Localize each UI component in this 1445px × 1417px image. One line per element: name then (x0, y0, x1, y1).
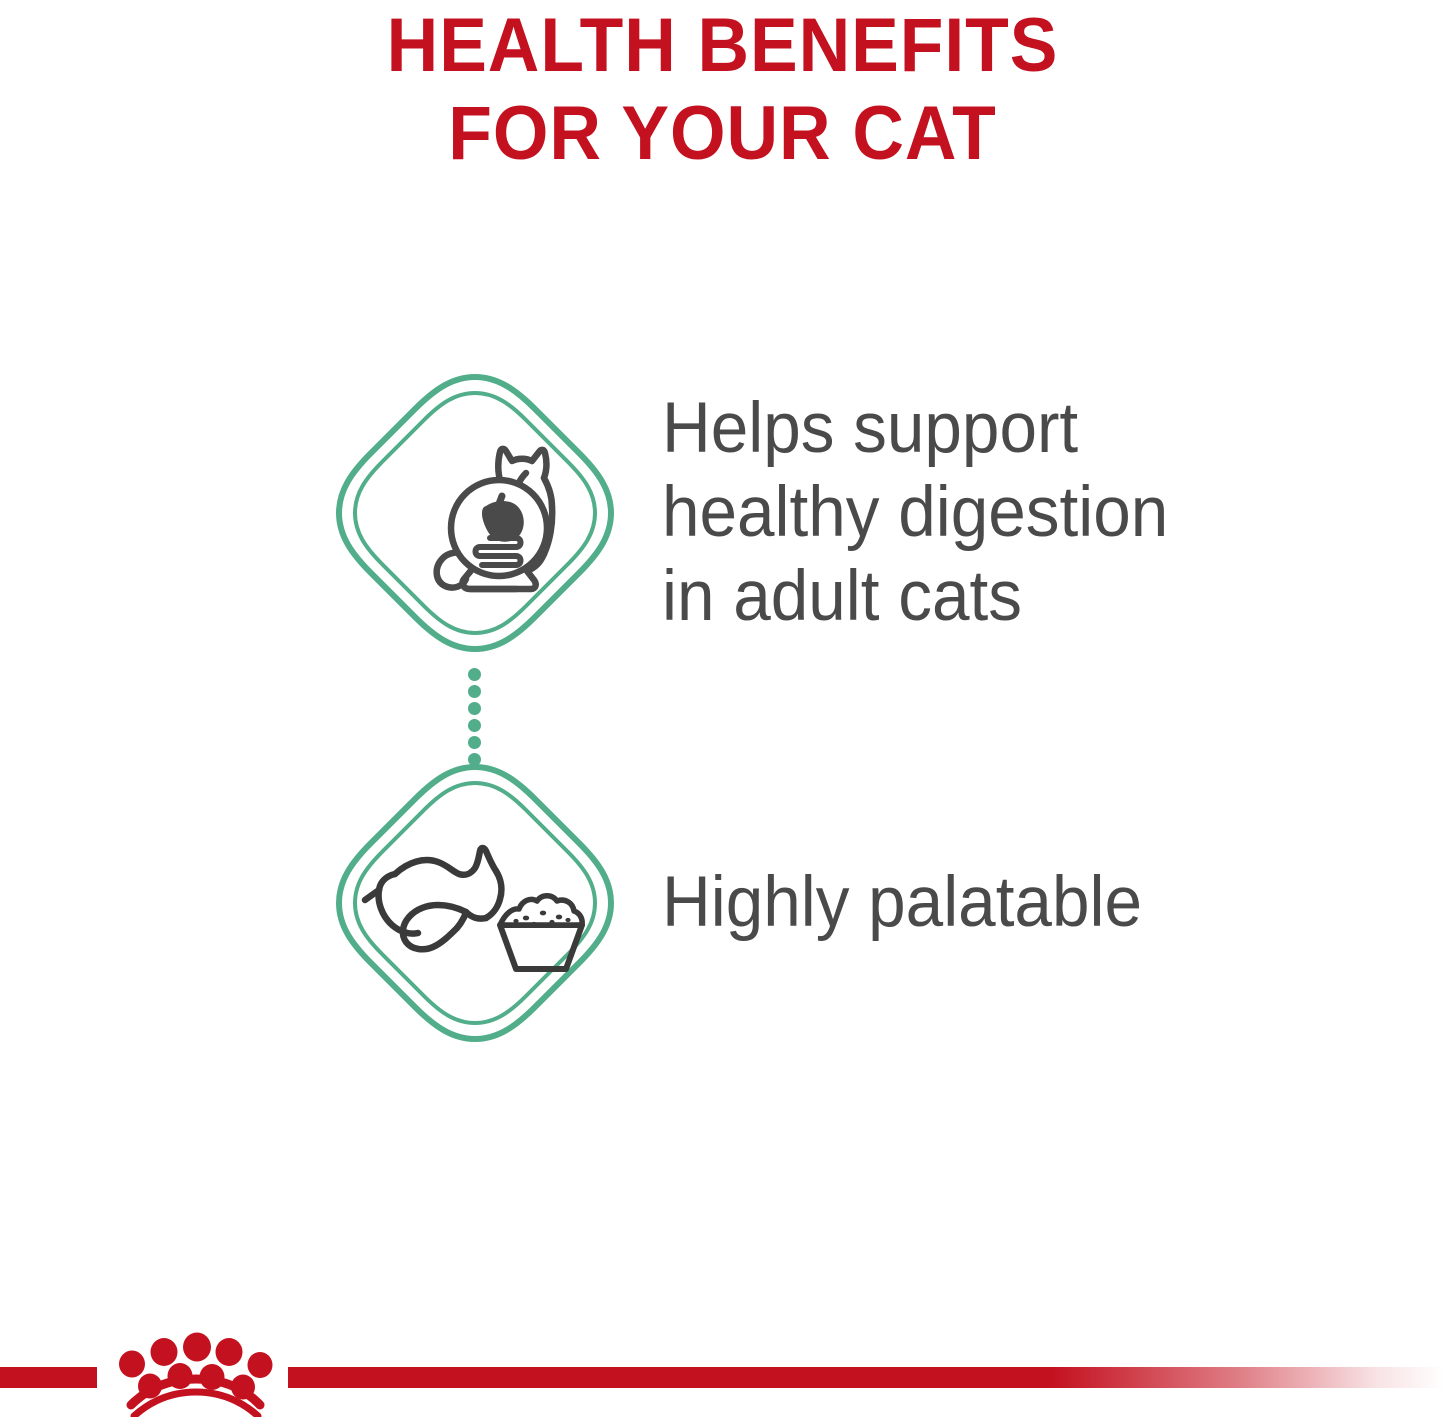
benefit-label-palatability: Highly palatable (662, 861, 1142, 945)
brand-footer (0, 1326, 1445, 1417)
brand-rule-left (0, 1367, 97, 1388)
dotted-connector (468, 668, 482, 766)
page-title: HEALTH BENEFITS FOR YOUR CAT (0, 2, 1445, 178)
benefits-list: Helps support healthy digestion in adult… (0, 368, 1445, 1048)
connector-dot (468, 736, 481, 749)
connector-dot (468, 753, 481, 766)
page-title-line-1: HEALTH BENEFITS (43, 2, 1401, 90)
connector-dot (468, 668, 481, 681)
connector-dot (468, 702, 481, 715)
royal-canin-crown-logo (98, 1326, 290, 1417)
cat-digestion-icon (330, 368, 620, 658)
connector-dot (468, 685, 481, 698)
cat-eating-bowl-icon (330, 758, 620, 1048)
connector-dot (468, 719, 481, 732)
benefit-item-palatability: Highly palatable (0, 758, 1445, 1048)
brand-rule-right (288, 1367, 1445, 1388)
benefit-label-digestion: Helps support healthy digestion in adult… (662, 387, 1168, 639)
benefit-item-digestion: Helps support healthy digestion in adult… (0, 368, 1445, 658)
page-title-line-2: FOR YOUR CAT (43, 90, 1401, 178)
